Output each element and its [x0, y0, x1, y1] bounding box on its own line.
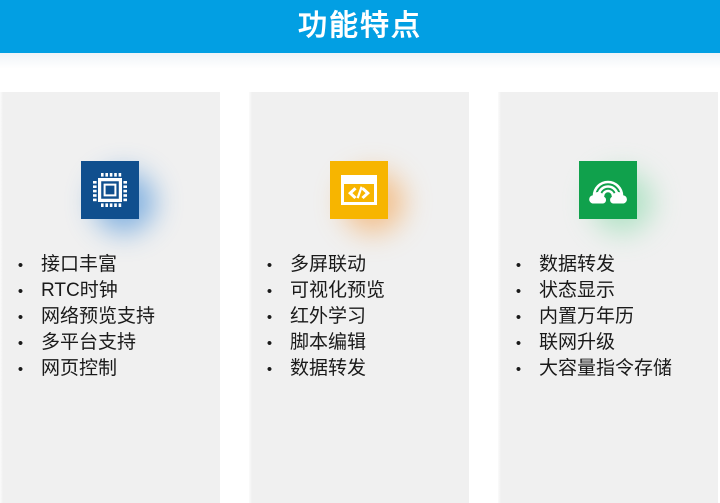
- icon-tile: [579, 161, 637, 219]
- feature-card[interactable]: • 接口丰富 • RTC时钟 • 网络预览支持 • 多平台支持 • 网页控制: [0, 92, 220, 503]
- list-item: • 多屏联动: [249, 252, 469, 278]
- feature-card[interactable]: • 数据转发 • 状态显示 • 内置万年历 • 联网升级 • 大容量指令存储: [498, 92, 718, 503]
- header-banner: 功能特点: [0, 0, 720, 53]
- feature-label: RTC时钟: [41, 278, 220, 304]
- list-item: • 网页控制: [0, 356, 220, 382]
- feature-label: 内置万年历: [539, 304, 718, 330]
- feature-card[interactable]: • 多屏联动 • 可视化预览 • 红外学习 • 脚本编辑 • 数据转发: [249, 92, 469, 503]
- feature-label: 接口丰富: [41, 252, 220, 278]
- bullet-icon: •: [0, 357, 41, 383]
- bullet-icon: •: [0, 305, 41, 331]
- feature-label: 状态显示: [539, 278, 718, 304]
- feature-label: 红外学习: [290, 304, 469, 330]
- card-icon-wrap: [0, 150, 220, 230]
- feature-list: • 数据转发 • 状态显示 • 内置万年历 • 联网升级 • 大容量指令存储: [498, 252, 718, 382]
- feature-label: 数据转发: [539, 252, 718, 278]
- bullet-icon: •: [498, 331, 539, 357]
- bullet-icon: •: [498, 357, 539, 383]
- bullet-icon: •: [498, 253, 539, 279]
- feature-label: 网络预览支持: [41, 304, 220, 330]
- cpu-chip-icon: [81, 161, 139, 219]
- card-icon-wrap: [249, 150, 469, 230]
- bullet-icon: •: [0, 331, 41, 357]
- bullet-icon: •: [249, 305, 290, 331]
- list-item: • 联网升级: [498, 330, 718, 356]
- code-window-icon: [330, 161, 388, 219]
- page-title: 功能特点: [298, 12, 422, 41]
- feature-label: 可视化预览: [290, 278, 469, 304]
- bullet-icon: •: [0, 253, 41, 279]
- bullet-icon: •: [0, 279, 41, 305]
- bullet-icon: •: [498, 279, 539, 305]
- bullet-icon: •: [249, 357, 290, 383]
- list-item: • RTC时钟: [0, 278, 220, 304]
- list-item: • 数据转发: [249, 356, 469, 382]
- bullet-icon: •: [249, 279, 290, 305]
- icon-tile: [330, 161, 388, 219]
- card-icon-wrap: [498, 150, 718, 230]
- list-item: • 内置万年历: [498, 304, 718, 330]
- header-gradient-divider: [0, 53, 720, 69]
- list-item: • 脚本编辑: [249, 330, 469, 356]
- bullet-icon: •: [249, 253, 290, 279]
- icon-tile: [81, 161, 139, 219]
- list-item: • 网络预览支持: [0, 304, 220, 330]
- list-item: • 红外学习: [249, 304, 469, 330]
- feature-label: 脚本编辑: [290, 330, 469, 356]
- feature-label: 网页控制: [41, 356, 220, 382]
- list-item: • 大容量指令存储: [498, 356, 718, 382]
- list-item: • 数据转发: [498, 252, 718, 278]
- bullet-icon: •: [498, 305, 539, 331]
- feature-highlights-page: 功能特点: [0, 0, 720, 503]
- list-item: • 状态显示: [498, 278, 718, 304]
- bullet-icon: •: [249, 331, 290, 357]
- feature-cards-row: • 接口丰富 • RTC时钟 • 网络预览支持 • 多平台支持 • 网页控制: [0, 92, 720, 503]
- feature-list: • 接口丰富 • RTC时钟 • 网络预览支持 • 多平台支持 • 网页控制: [0, 252, 220, 382]
- list-item: • 可视化预览: [249, 278, 469, 304]
- feature-label: 多平台支持: [41, 330, 220, 356]
- cloud-rainbow-icon: [579, 161, 637, 219]
- feature-list: • 多屏联动 • 可视化预览 • 红外学习 • 脚本编辑 • 数据转发: [249, 252, 469, 382]
- list-item: • 接口丰富: [0, 252, 220, 278]
- list-item: • 多平台支持: [0, 330, 220, 356]
- feature-label: 数据转发: [290, 356, 469, 382]
- feature-label: 多屏联动: [290, 252, 469, 278]
- feature-label: 联网升级: [539, 330, 718, 356]
- feature-label: 大容量指令存储: [539, 356, 718, 382]
